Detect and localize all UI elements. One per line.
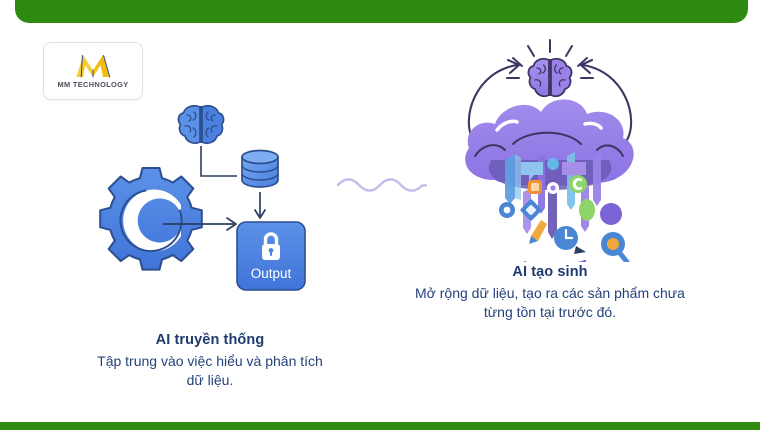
arrow-down-icon [255,192,265,218]
traditional-ai-subtitle: Tập trung vào việc hiểu và phân tích dữ … [88,351,332,392]
generative-ai-caption: AI tạo sinh Mở rộng dữ liệu, tạo ra các … [400,257,700,323]
brain-icon [528,59,571,96]
column-generative-ai: AI tạo sinh Mở rộng dữ liệu, tạo ra các … [400,100,700,323]
dot-icon [547,158,559,170]
brand-logo: MM TECHNOLOGY [43,42,143,100]
output-label: Output [251,266,292,281]
leaf-icon [579,199,595,221]
brand-logo-text: MM TECHNOLOGY [57,80,128,89]
brain-icon [178,106,223,143]
traditional-ai-caption: AI truyền thống Tập trung vào việc hiểu … [70,325,350,391]
c-badge-icon [569,175,587,193]
output-box: Output [237,222,305,290]
generative-ai-subtitle: Mở rộng dữ liệu, tạo ra các sản phẩm chư… [414,283,686,324]
generative-ai-illustration [400,32,700,257]
music-note-icon [562,260,586,262]
traditional-ai-title: AI truyền thống [70,331,350,351]
cube-icon [513,261,537,262]
database-icon [242,151,278,188]
top-green-bar [15,0,748,23]
letter-m-mark-icon [73,53,113,79]
generative-ai-title: AI tạo sinh [400,263,700,283]
gear-icon [100,168,202,270]
bottom-green-bar [0,422,760,430]
column-traditional-ai: Output AI truyền thống Tập trung vào việ… [70,100,350,391]
circle-icon [600,203,622,225]
slide-canvas: MM TECHNOLOGY [0,0,760,430]
brain-to-database-connector [201,146,237,176]
cloud-icon [465,99,633,190]
traditional-ai-illustration: Output [70,100,350,325]
